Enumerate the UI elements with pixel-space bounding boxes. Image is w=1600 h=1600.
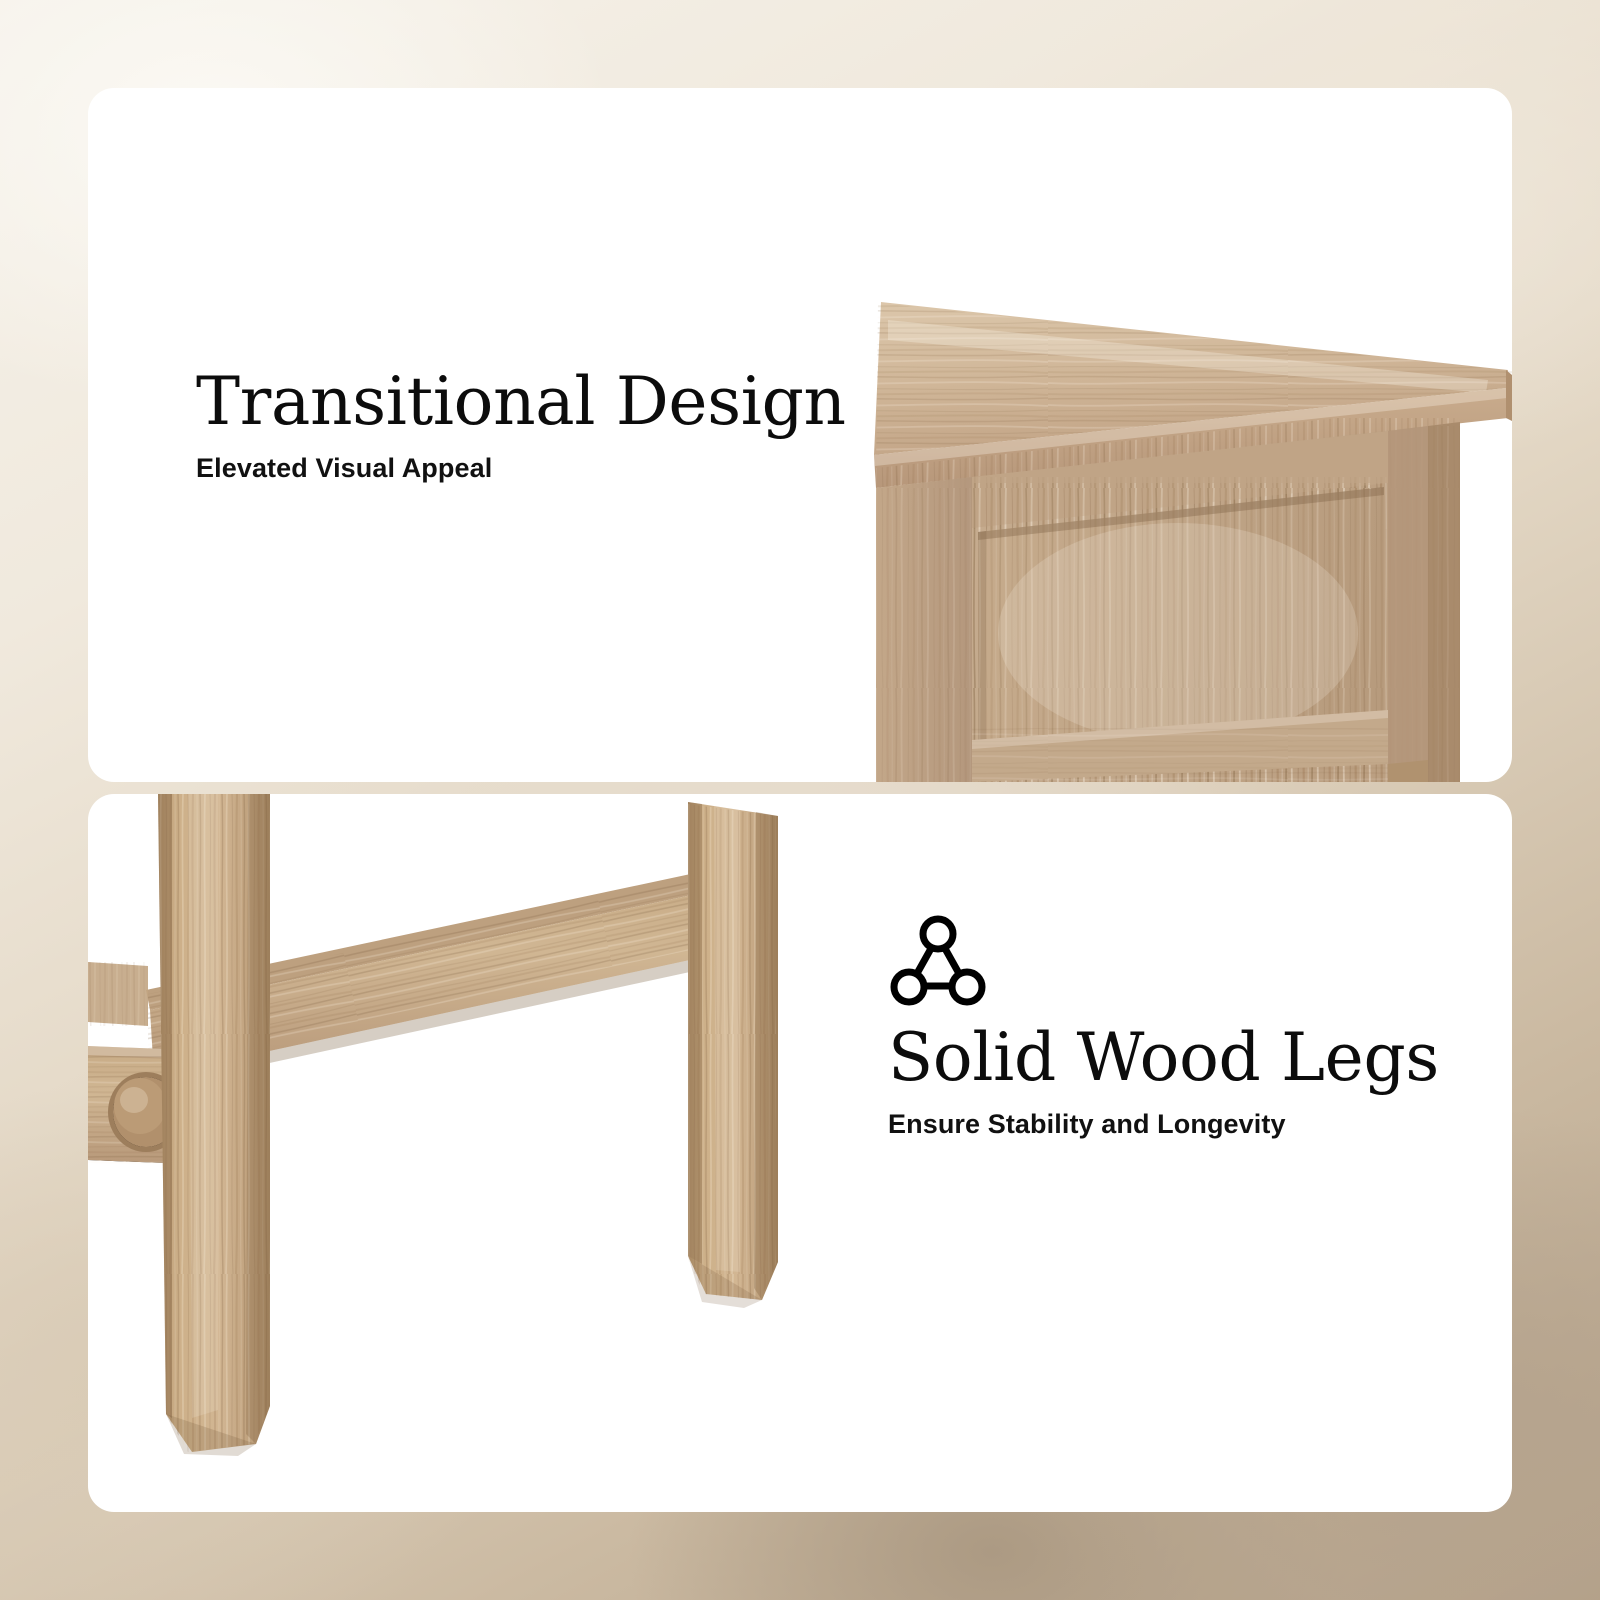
feature-card-transitional-design: Transitional Design Elevated Visual Appe… xyxy=(88,88,1512,782)
transitional-design-text-block: Transitional Design Elevated Visual Appe… xyxy=(196,368,846,484)
transitional-design-subhead: Elevated Visual Appeal xyxy=(196,453,846,484)
solid-wood-legs-headline: Solid Wood Legs xyxy=(888,1024,1439,1093)
feature-card-solid-wood-legs: Solid Wood Legs Ensure Stability and Lon… xyxy=(88,794,1512,1512)
solid-wood-legs-subhead: Ensure Stability and Longevity xyxy=(888,1109,1439,1140)
tripod-stability-icon xyxy=(888,914,988,1006)
transitional-design-headline: Transitional Design xyxy=(196,368,846,437)
solid-wood-legs-text-block: Solid Wood Legs Ensure Stability and Lon… xyxy=(888,1024,1439,1140)
wood-legs-image xyxy=(88,794,1512,1512)
